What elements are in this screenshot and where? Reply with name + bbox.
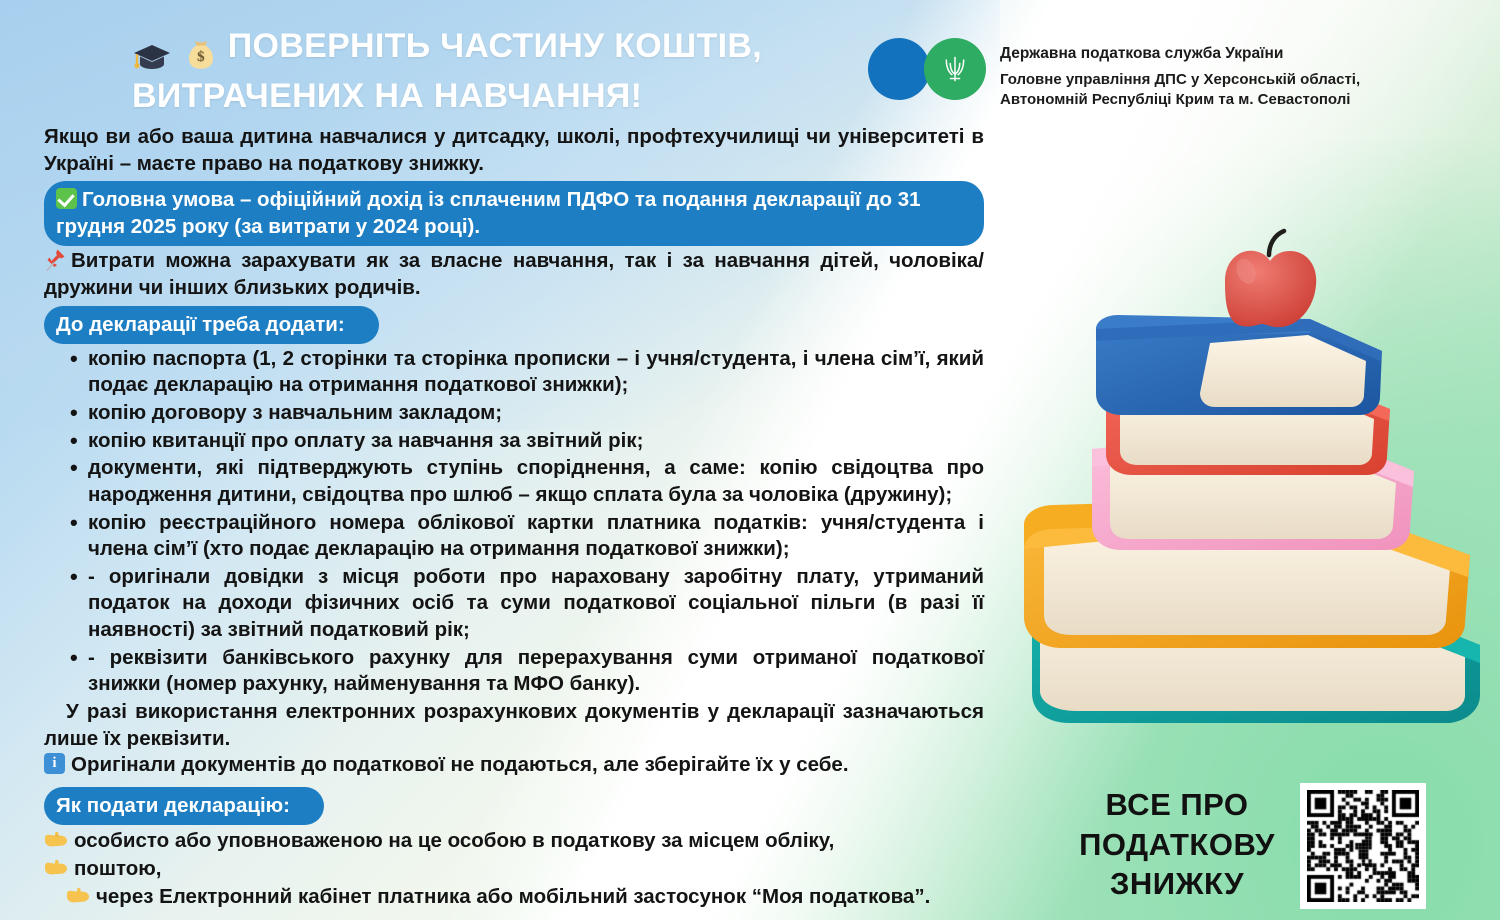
title-line-2: ВИТРАЧЕНИХ НА НАВЧАННЯ! xyxy=(132,74,852,118)
books-stack-illustration xyxy=(1010,225,1490,730)
list-item: копію реєстраційного номера облікової ка… xyxy=(44,510,984,563)
agency-unit-line-1: Головне управління ДПС у Херсонській обл… xyxy=(1000,70,1360,90)
cta-line-1: ВСЕ ПРО xyxy=(1062,785,1292,825)
cta-text-block: ВСЕ ПРО ПОДАТКОВУ ЗНИЖКУ xyxy=(1062,785,1292,904)
pointing-hand-icon xyxy=(44,857,68,877)
title-line-1: $ ПОВЕРНІТЬ ЧАСТИНУ КОШТІВ, xyxy=(132,24,852,74)
check-icon xyxy=(56,188,77,209)
logo-blue-circle xyxy=(868,38,930,100)
list-item-text: особисто або уповноваженою на це особою … xyxy=(74,829,834,852)
list-item: поштою, xyxy=(44,855,984,882)
documents-list: копію паспорта (1, 2 сторінки та сторінк… xyxy=(44,346,984,698)
list-item: документи, які підтверджують ступінь спо… xyxy=(44,455,984,508)
title-emoji-group: $ xyxy=(132,30,218,74)
cta-line-3: ЗНИЖКУ xyxy=(1062,864,1292,904)
main-content: Якщо ви або ваша дитина навчалися у дитс… xyxy=(44,124,984,911)
list-item: - реквізити банківського рахунку для пер… xyxy=(44,645,984,698)
svg-text:$: $ xyxy=(197,49,205,65)
poster-title: $ ПОВЕРНІТЬ ЧАСТИНУ КОШТІВ, ВИТРАЧЕНИХ Н… xyxy=(132,24,852,118)
list-item: через Електронний кабінет платника або м… xyxy=(44,883,984,910)
intro-lead: Якщо ви або ваша дитина навчалися у дитс… xyxy=(44,124,984,177)
qr-code[interactable] xyxy=(1300,783,1426,909)
originals-note-text: Оригінали документів до податкової не по… xyxy=(71,753,849,776)
agency-logo-block: Державна податкова служба України Головн… xyxy=(868,38,1360,109)
how-to-submit-heading-banner: Як подати декларацію: xyxy=(44,787,324,825)
info-icon xyxy=(44,753,65,774)
agency-name-block: Державна податкова служба України Головн… xyxy=(1000,38,1360,109)
cta-line-2: ПОДАТКОВУ xyxy=(1062,825,1292,865)
list-item: копію договору з навчальним закладом; xyxy=(44,400,984,427)
title-text-1: ПОВЕРНІТЬ ЧАСТИНУ КОШТІВ, xyxy=(228,27,762,65)
agency-name: Державна податкова служба України xyxy=(1000,43,1360,65)
documents-heading-banner: До декларації треба додати: xyxy=(44,306,379,344)
list-item: особисто або уповноваженою на це особою … xyxy=(44,827,984,854)
list-item: - оригінали довідки з місця роботи про н… xyxy=(44,564,984,644)
originals-note: Оригінали документів до податкової не по… xyxy=(44,752,984,779)
list-item: копію паспорта (1, 2 сторінки та сторінк… xyxy=(44,346,984,399)
book-blue xyxy=(1096,315,1382,415)
list-item-text: через Електронний кабінет платника або м… xyxy=(96,885,930,908)
apple-icon xyxy=(1225,231,1316,327)
expenses-note: Витрати можна зарахувати як за власне на… xyxy=(44,248,984,301)
expenses-note-text: Витрати можна зарахувати як за власне на… xyxy=(44,249,984,299)
money-bag-icon: $ xyxy=(184,37,218,71)
how-to-submit-list: особисто або уповноваженою на це особою … xyxy=(44,827,984,910)
list-item: копію квитанції про оплату за навчання з… xyxy=(44,428,984,455)
pushpin-icon xyxy=(44,248,66,272)
pointing-hand-icon xyxy=(66,885,90,905)
list-item-text: поштою, xyxy=(74,857,162,880)
main-condition-text: Головна умова – офіційний дохід із сплач… xyxy=(56,188,921,238)
main-condition-banner: Головна умова – офіційний дохід із сплач… xyxy=(44,181,984,246)
agency-unit-line-2: Автономній Республіці Крим та м. Севасто… xyxy=(1000,90,1360,110)
tryzub-icon xyxy=(942,53,968,85)
graduation-cap-icon xyxy=(132,39,172,69)
pointing-hand-icon xyxy=(44,829,68,849)
electronic-documents-note: У разі використання електронних розрахун… xyxy=(44,699,984,752)
logo-green-circle-tryzub xyxy=(924,38,986,100)
qr-canvas xyxy=(1307,790,1419,902)
